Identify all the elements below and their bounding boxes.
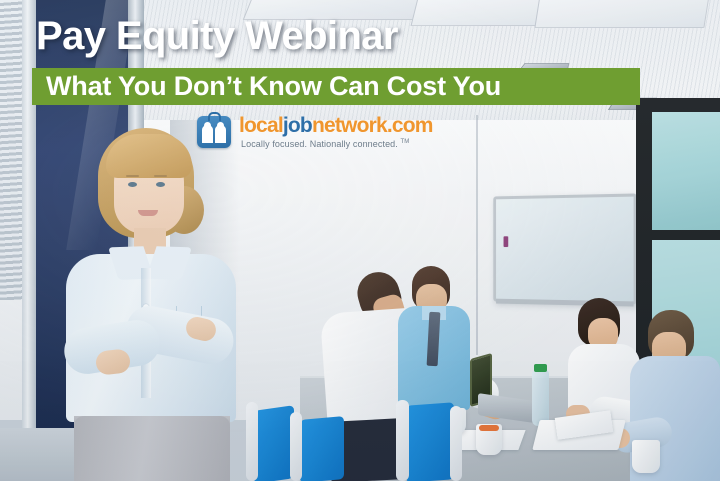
office-chair: [406, 402, 454, 481]
ceiling-panel: [534, 0, 711, 28]
coffee-mug: [632, 440, 660, 473]
wall-corner: [476, 115, 478, 355]
office-chair: [254, 405, 294, 481]
woman-eye: [156, 182, 165, 187]
logo-tagline-text: Locally focused. Nationally connected.: [241, 139, 398, 149]
logo-word-network: network.com: [312, 114, 433, 137]
whiteboard: [493, 193, 636, 304]
woman-eyebrow: [154, 175, 167, 177]
woman-skirt: [74, 416, 230, 481]
woman-hair-front: [106, 134, 192, 178]
briefcase-icon: [197, 116, 231, 148]
logo-wordmark: localjobnetwork.com: [239, 114, 433, 137]
woman-mouth: [138, 210, 158, 216]
glass-door-pane: [652, 112, 720, 230]
water-bottle: [532, 370, 549, 426]
office-chair-frame: [290, 412, 302, 481]
page-title: Pay Equity Webinar: [36, 16, 398, 56]
subtitle-text: What You Don’t Know Can Cost You: [46, 72, 501, 101]
trademark-symbol: TM: [401, 139, 410, 145]
whiteboard-marker: [504, 236, 509, 247]
businesswoman-subject: [38, 128, 258, 481]
localjobnetwork-logo[interactable]: localjobnetwork.com Locally focused. Nat…: [197, 114, 417, 160]
office-chair-frame: [450, 406, 462, 481]
logo-tagline: Locally focused. Nationally connected. T…: [241, 139, 409, 149]
briefcase-handle-icon: [208, 112, 221, 121]
webinar-promo-banner: Pay Equity Webinar What You Don’t Know C…: [0, 0, 720, 481]
water-bottle-cap: [534, 364, 547, 372]
office-chair: [300, 416, 344, 481]
logo-word-local: local: [239, 114, 283, 137]
person-head-icon: [204, 122, 211, 129]
subtitle-banner: What You Don’t Know Can Cost You: [32, 68, 640, 105]
person-head-icon: [217, 122, 224, 129]
coffee-mug-rim: [479, 425, 499, 431]
logo-word-job: job: [283, 114, 312, 137]
woman-eyebrow: [126, 175, 139, 177]
woman-eye: [128, 182, 137, 187]
office-chair-frame: [396, 400, 409, 481]
